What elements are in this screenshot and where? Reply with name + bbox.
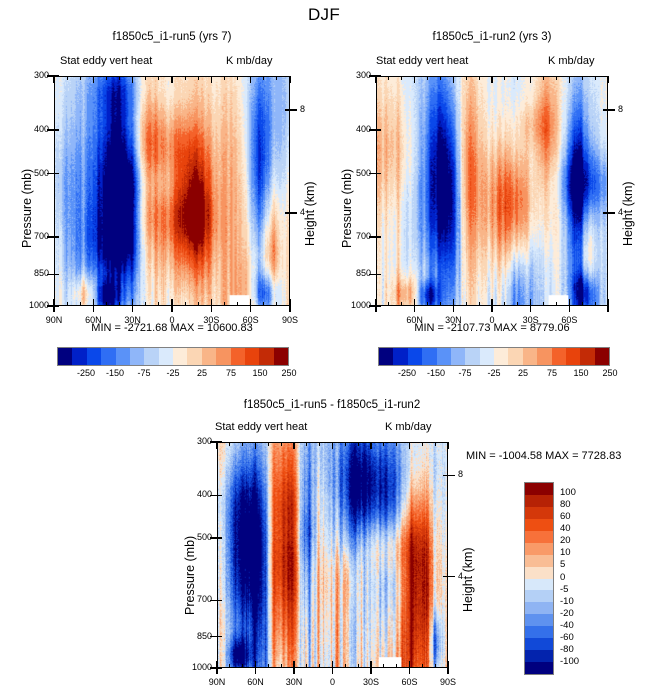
colorbar-cell xyxy=(451,348,465,365)
x-tick-mark xyxy=(414,306,415,312)
x-tick-top xyxy=(229,442,230,446)
x-tick-mark xyxy=(530,306,531,312)
x-tick-bottom xyxy=(375,299,376,306)
x-tick-top xyxy=(216,442,217,449)
x-tick-top xyxy=(80,76,81,80)
x-tick-label: 60S xyxy=(231,315,271,325)
y-tick-label: 500 xyxy=(338,168,371,178)
x-tick-label: 60N xyxy=(236,677,276,687)
x-tick-label: 0 xyxy=(152,315,192,325)
y2-tick-mark xyxy=(448,576,455,577)
colorbar-labels-diff: 100806040201050-5-10-20-40-60-80-100 xyxy=(556,482,616,675)
x-tick-mark xyxy=(332,668,333,674)
y-tick-label: 400 xyxy=(338,124,371,134)
x-tick-top xyxy=(358,442,359,446)
colorbar-tick-label: -40 xyxy=(560,620,574,631)
x-tick-mark xyxy=(453,306,454,312)
colorbar-cell xyxy=(437,348,451,365)
colorbar-cell xyxy=(525,531,553,543)
x-tick-top xyxy=(530,76,531,83)
colorbar-cell xyxy=(552,348,566,365)
y-tick-label: 300 xyxy=(338,70,371,80)
plot-area-diff xyxy=(217,442,448,668)
x-tick-top xyxy=(224,76,225,80)
x-tick-top xyxy=(447,442,448,449)
y2-tick-label: 4 xyxy=(300,207,318,217)
y2-tick-label: 8 xyxy=(300,104,318,114)
x-tick-bottom xyxy=(422,664,423,668)
y-tick-label: 1000 xyxy=(16,300,49,310)
colorbar-cell xyxy=(525,507,553,519)
y-tick-inner xyxy=(217,537,222,538)
x-tick-mark xyxy=(293,668,294,674)
x-tick-top xyxy=(237,76,238,80)
y2-tick-inner xyxy=(443,475,448,476)
x-tick-bottom xyxy=(255,661,256,668)
y-tick-inner xyxy=(217,495,222,496)
plot-area-run2 xyxy=(376,76,608,306)
x-tick-bottom xyxy=(491,299,492,306)
colorbar-cell xyxy=(595,348,609,365)
x-tick-bottom xyxy=(401,302,402,306)
x-tick-top xyxy=(569,76,570,83)
colorbar-tick-label: -60 xyxy=(560,632,574,643)
y-tick-label: 300 xyxy=(16,70,49,80)
y2-tick-mark xyxy=(290,109,297,110)
colorbar-run5 xyxy=(57,347,289,366)
x-tick-top xyxy=(595,76,596,80)
heatmap-canvas-run5 xyxy=(55,77,289,305)
x-tick-top xyxy=(422,442,423,446)
x-tick-bottom xyxy=(517,302,518,306)
y2-tick-label: 4 xyxy=(458,571,476,581)
x-tick-bottom xyxy=(388,302,389,306)
x-tick-bottom xyxy=(396,664,397,668)
x-tick-label: 0 xyxy=(472,315,512,325)
x-tick-label: 90N xyxy=(34,315,74,325)
colorbar-cell xyxy=(274,348,288,365)
x-tick-top xyxy=(171,76,172,83)
colorbar-cell xyxy=(245,348,259,365)
x-tick-label: 30S xyxy=(511,315,551,325)
y-tick-label: 850 xyxy=(338,268,371,278)
x-tick-top xyxy=(401,76,402,80)
x-tick-mark xyxy=(255,668,256,674)
colorbar-cell xyxy=(525,579,553,591)
x-tick-top xyxy=(491,76,492,83)
x-tick-bottom xyxy=(67,302,68,306)
x-tick-top xyxy=(556,76,557,80)
colorbar-cell xyxy=(525,543,553,555)
x-tick-bottom xyxy=(53,299,54,306)
x-tick-top xyxy=(185,76,186,80)
x-tick-top xyxy=(93,76,94,83)
colorbar-cell xyxy=(465,348,479,365)
x-tick-top xyxy=(276,76,277,80)
colorbar-cell xyxy=(144,348,158,365)
x-tick-bottom xyxy=(289,299,290,306)
x-tick-label: 60S xyxy=(549,315,589,325)
x-tick-label: 30S xyxy=(351,677,391,687)
x-tick-mark xyxy=(447,668,448,674)
figure-title: DJF xyxy=(0,5,648,25)
x-tick-top xyxy=(440,76,441,80)
x-tick-top xyxy=(319,442,320,446)
colorbar-tick-label: 60 xyxy=(560,511,571,522)
y-tick-label: 300 xyxy=(179,436,212,446)
colorbar-cell xyxy=(494,348,508,365)
x-tick-top xyxy=(370,442,371,449)
x-tick-mark xyxy=(216,668,217,674)
colorbar-cell xyxy=(87,348,101,365)
heatmap-canvas-run2 xyxy=(377,77,607,305)
y-tick-inner xyxy=(217,667,222,668)
y-tick-inner xyxy=(54,274,59,275)
colorbar-tick-label: -20 xyxy=(560,608,574,619)
x-tick-bottom xyxy=(185,302,186,306)
colorbar-tick-label: 250 xyxy=(269,368,309,378)
y2-tick-mark xyxy=(448,475,455,476)
y2-tick-inner xyxy=(285,212,290,213)
y2-tick-inner xyxy=(603,109,608,110)
x-tick-mark xyxy=(132,306,133,312)
x-tick-top xyxy=(332,442,333,449)
y-tick-label: 400 xyxy=(16,124,49,134)
x-tick-mark xyxy=(53,306,54,312)
colorbar-tick-label: -10 xyxy=(560,596,574,607)
x-tick-top xyxy=(53,76,54,83)
y2-tick-mark xyxy=(608,212,615,213)
x-tick-mark xyxy=(607,306,608,312)
x-tick-bottom xyxy=(224,302,225,306)
panel-variable-label-run2: Stat eddy vert heat xyxy=(376,55,468,67)
panel-title-run5: f1850c5_i1-run5 (yrs 7) xyxy=(40,31,304,43)
x-tick-label: 0 xyxy=(313,677,353,687)
colorbar-tick-label: 250 xyxy=(590,368,630,378)
x-tick-label: 90N xyxy=(197,677,237,687)
panel-units-label-run2: K mb/day xyxy=(548,55,594,67)
x-tick-bottom xyxy=(595,302,596,306)
x-tick-bottom xyxy=(440,302,441,306)
y-tick-inner xyxy=(217,441,222,442)
x-tick-bottom xyxy=(427,302,428,306)
x-tick-bottom xyxy=(479,302,480,306)
colorbar-cell xyxy=(508,348,522,365)
y2-tick-mark xyxy=(290,212,297,213)
y2-tick-label: 8 xyxy=(618,104,636,114)
x-tick-label: 90S xyxy=(270,315,310,325)
x-tick-top xyxy=(517,76,518,80)
x-tick-bottom xyxy=(319,664,320,668)
y-tick-label: 1000 xyxy=(179,662,212,672)
y-tick-label: 700 xyxy=(179,594,212,604)
y2-tick-mark xyxy=(608,109,615,110)
x-tick-label: 30N xyxy=(433,315,473,325)
x-tick-bottom xyxy=(132,299,133,306)
x-tick-top xyxy=(427,76,428,80)
colorbar-tick-label: -80 xyxy=(560,644,574,655)
y-tick-inner xyxy=(54,173,59,174)
y2-tick-inner xyxy=(603,212,608,213)
x-tick-top xyxy=(211,76,212,83)
x-tick-label: 60S xyxy=(390,677,430,687)
colorbar-cell xyxy=(216,348,230,365)
colorbar-cell xyxy=(202,348,216,365)
colorbar-cell xyxy=(72,348,86,365)
x-tick-bottom xyxy=(409,661,410,668)
x-tick-bottom xyxy=(276,302,277,306)
colorbar-tick-label: 100 xyxy=(560,487,576,498)
colorbar-cell xyxy=(130,348,144,365)
x-tick-bottom xyxy=(293,661,294,668)
y-tick-inner xyxy=(376,129,381,130)
colorbar-cell xyxy=(525,602,553,614)
minmax-diff: MIN = -1004.58 MAX = 7728.83 xyxy=(466,450,621,462)
x-tick-top xyxy=(132,76,133,83)
x-tick-bottom xyxy=(383,664,384,668)
x-tick-bottom xyxy=(543,302,544,306)
colorbar-tick-label: 80 xyxy=(560,499,571,510)
x-tick-bottom xyxy=(332,661,333,668)
x-tick-top xyxy=(289,76,290,83)
colorbar-diff xyxy=(524,482,554,675)
y-tick-inner xyxy=(54,129,59,130)
x-tick-label: 30N xyxy=(113,315,153,325)
x-tick-bottom xyxy=(250,299,251,306)
x-tick-top xyxy=(607,76,608,83)
y2-tick-label: 8 xyxy=(458,469,476,479)
colorbar-cell xyxy=(525,626,553,638)
x-tick-top xyxy=(582,76,583,80)
x-tick-bottom xyxy=(414,299,415,306)
x-tick-top xyxy=(543,76,544,80)
y-tick-label: 850 xyxy=(179,631,212,641)
x-tick-top xyxy=(158,76,159,80)
x-tick-top xyxy=(388,76,389,80)
x-tick-top xyxy=(466,76,467,80)
colorbar-cell xyxy=(408,348,422,365)
colorbar-cell xyxy=(480,348,494,365)
colorbar-cell xyxy=(580,348,594,365)
colorbar-cell xyxy=(525,638,553,650)
y2-tick-inner xyxy=(443,576,448,577)
x-tick-mark xyxy=(491,306,492,312)
x-tick-mark xyxy=(370,668,371,674)
colorbar-cell xyxy=(525,519,553,531)
colorbar-tick-label: -100 xyxy=(560,656,579,667)
colorbar-cell xyxy=(537,348,551,365)
colorbar-cell xyxy=(525,662,553,674)
colorbar-cell xyxy=(116,348,130,365)
x-tick-top xyxy=(145,76,146,80)
x-tick-bottom xyxy=(268,664,269,668)
x-tick-bottom xyxy=(504,302,505,306)
x-tick-mark xyxy=(409,668,410,674)
x-tick-top xyxy=(255,442,256,449)
y-tick-inner xyxy=(376,274,381,275)
x-tick-bottom xyxy=(358,664,359,668)
colorbar-cell xyxy=(525,495,553,507)
x-tick-top xyxy=(414,76,415,83)
colorbar-cell xyxy=(173,348,187,365)
y-tick-inner xyxy=(54,236,59,237)
colorbar-labels-run2: -250-150-75-252575150250 xyxy=(378,368,610,382)
x-tick-top xyxy=(67,76,68,80)
x-tick-bottom xyxy=(119,302,120,306)
x-tick-mark xyxy=(569,306,570,312)
x-tick-bottom xyxy=(93,299,94,306)
x-tick-top xyxy=(383,442,384,446)
x-tick-bottom xyxy=(171,299,172,306)
colorbar-cell xyxy=(566,348,580,365)
x-tick-bottom xyxy=(447,661,448,668)
x-tick-bottom xyxy=(80,302,81,306)
colorbar-cell xyxy=(187,348,201,365)
colorbar-tick-label: 0 xyxy=(560,572,565,583)
x-tick-top xyxy=(250,76,251,83)
panel-units-label-run5: K mb/day xyxy=(226,55,272,67)
x-tick-mark xyxy=(250,306,251,312)
panel-title-diff: f1850c5_i1-run5 - f1850c5_i1-run2 xyxy=(200,399,464,411)
panel-variable-label-diff: Stat eddy vert heat xyxy=(215,421,307,433)
x-tick-bottom xyxy=(281,664,282,668)
colorbar-tick-label: 10 xyxy=(560,547,571,558)
y-tick-inner xyxy=(376,173,381,174)
x-tick-top xyxy=(375,76,376,83)
x-tick-mark xyxy=(171,306,172,312)
x-tick-bottom xyxy=(453,299,454,306)
x-tick-bottom xyxy=(556,302,557,306)
y2-tick-inner xyxy=(285,109,290,110)
x-tick-bottom xyxy=(229,664,230,668)
x-tick-bottom xyxy=(263,302,264,306)
x-tick-bottom xyxy=(211,299,212,306)
x-tick-bottom xyxy=(198,302,199,306)
y-tick-label: 500 xyxy=(16,168,49,178)
x-tick-bottom xyxy=(106,302,107,306)
x-tick-bottom xyxy=(582,302,583,306)
x-tick-bottom xyxy=(370,661,371,668)
colorbar-cell xyxy=(393,348,407,365)
x-tick-mark xyxy=(93,306,94,312)
x-tick-top xyxy=(306,442,307,446)
x-tick-label: 30S xyxy=(191,315,231,325)
y-tick-label: 400 xyxy=(179,489,212,499)
y-tick-label: 1000 xyxy=(338,300,371,310)
x-tick-mark xyxy=(375,306,376,312)
y-tick-inner xyxy=(217,636,222,637)
colorbar-cell xyxy=(523,348,537,365)
x-tick-top xyxy=(504,76,505,80)
x-tick-top xyxy=(263,76,264,80)
x-tick-label: 90S xyxy=(428,677,468,687)
x-tick-bottom xyxy=(345,664,346,668)
x-tick-top xyxy=(435,442,436,446)
colorbar-tick-label: 40 xyxy=(560,523,571,534)
y-tick-label: 500 xyxy=(179,532,212,542)
colorbar-cell xyxy=(58,348,72,365)
y-tick-inner xyxy=(376,305,381,306)
panel-units-label-diff: K mb/day xyxy=(385,421,431,433)
x-tick-top xyxy=(119,76,120,80)
colorbar-cell xyxy=(525,590,553,602)
colorbar-cell xyxy=(525,483,553,495)
x-tick-top xyxy=(293,442,294,449)
y-tick-inner xyxy=(376,75,381,76)
x-tick-bottom xyxy=(466,302,467,306)
x-tick-top xyxy=(409,442,410,449)
x-tick-bottom xyxy=(145,302,146,306)
colorbar-cell xyxy=(525,614,553,626)
plot-area-run5 xyxy=(54,76,290,306)
colorbar-tick-label: 20 xyxy=(560,535,571,546)
heatmap-canvas-diff xyxy=(218,443,447,667)
x-tick-bottom xyxy=(306,664,307,668)
colorbar-cell xyxy=(159,348,173,365)
colorbar-labels-run5: -250-150-75-252575150250 xyxy=(57,368,289,382)
colorbar-cell xyxy=(101,348,115,365)
y-tick-inner xyxy=(376,236,381,237)
x-tick-mark xyxy=(211,306,212,312)
colorbar-cell xyxy=(525,650,553,662)
x-tick-label: 60N xyxy=(395,315,435,325)
x-tick-top xyxy=(479,76,480,80)
x-tick-top xyxy=(198,76,199,80)
x-tick-bottom xyxy=(530,299,531,306)
colorbar-tick-label: -5 xyxy=(560,584,568,595)
y-tick-label: 700 xyxy=(338,231,371,241)
y-tick-inner xyxy=(54,305,59,306)
x-tick-top xyxy=(242,442,243,446)
y2-tick-label: 4 xyxy=(618,207,636,217)
x-tick-bottom xyxy=(569,299,570,306)
x-tick-bottom xyxy=(216,661,217,668)
panel-title-run2: f1850c5_i1-run2 (yrs 3) xyxy=(360,31,624,43)
colorbar-cell xyxy=(379,348,393,365)
x-tick-bottom xyxy=(242,664,243,668)
colorbar-run2 xyxy=(378,347,610,366)
x-tick-label: 30N xyxy=(274,677,314,687)
y-tick-label: 850 xyxy=(16,268,49,278)
colorbar-cell xyxy=(259,348,273,365)
x-tick-top xyxy=(106,76,107,80)
x-tick-label: 60N xyxy=(73,315,113,325)
x-tick-top xyxy=(345,442,346,446)
colorbar-cell xyxy=(525,555,553,567)
y-tick-inner xyxy=(54,75,59,76)
colorbar-cell xyxy=(525,567,553,579)
x-tick-bottom xyxy=(607,299,608,306)
x-tick-top xyxy=(268,442,269,446)
x-tick-bottom xyxy=(237,302,238,306)
x-tick-bottom xyxy=(435,664,436,668)
x-tick-bottom xyxy=(158,302,159,306)
x-tick-mark xyxy=(289,306,290,312)
x-tick-top xyxy=(453,76,454,83)
x-tick-top xyxy=(396,442,397,446)
y-tick-label: 700 xyxy=(16,231,49,241)
x-tick-top xyxy=(281,442,282,446)
colorbar-cell xyxy=(231,348,245,365)
colorbar-cell xyxy=(422,348,436,365)
y-tick-inner xyxy=(217,600,222,601)
panel-variable-label-run5: Stat eddy vert heat xyxy=(60,55,152,67)
colorbar-tick-label: 5 xyxy=(560,559,565,570)
